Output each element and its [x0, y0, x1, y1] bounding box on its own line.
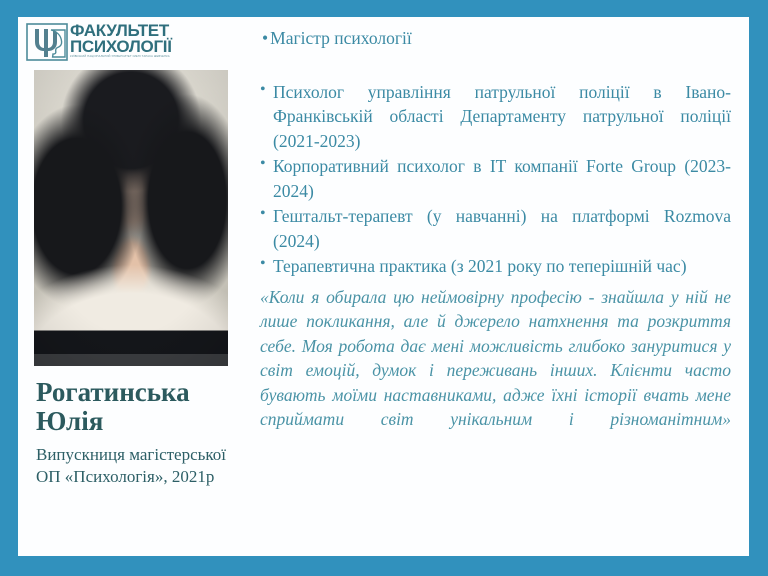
personal-quote: «Коли я обирала цю неймовірну професію -… — [260, 285, 731, 457]
profile-photo — [34, 70, 228, 366]
bullet-dot-icon: • — [262, 28, 268, 48]
list-item: Корпоративний психолог в IT компанії For… — [256, 154, 731, 203]
profile-subtitle: Випускниця магістерської ОП «Психологія»… — [36, 444, 232, 487]
logo-wordmark: ФАКУЛЬТЕТ ПСИХОЛОГІЇ КИЇВСЬКИЙ НАЦІОНАЛЬ… — [70, 23, 172, 59]
slide-frame: ФАКУЛЬТЕТ ПСИХОЛОГІЇ КИЇВСЬКИЙ НАЦІОНАЛЬ… — [0, 0, 768, 576]
faculty-logo: ФАКУЛЬТЕТ ПСИХОЛОГІЇ КИЇВСЬКИЙ НАЦІОНАЛЬ… — [26, 23, 172, 67]
profile-name: Рогатинська Юлія — [36, 378, 236, 435]
lead-bullet: •Магістр психології — [256, 28, 731, 50]
lead-bullet-text: Магістр психології — [270, 28, 412, 48]
list-item: Гештальт-терапевт (у навчанні) на платфо… — [256, 204, 731, 253]
content-column: •Магістр психології Психолог управління … — [244, 17, 749, 556]
list-item: Терапевтична практика (з 2021 року по те… — [256, 254, 731, 279]
photo-vignette — [34, 70, 228, 366]
psi-face-logo-icon — [26, 23, 68, 63]
experience-list: Психолог управління патрульної поліції в… — [256, 80, 731, 279]
logo-line-2: ПСИХОЛОГІЇ — [70, 39, 172, 55]
profile-column: ФАКУЛЬТЕТ ПСИХОЛОГІЇ КИЇВСЬКИЙ НАЦІОНАЛЬ… — [18, 17, 244, 556]
slide-content-area: ФАКУЛЬТЕТ ПСИХОЛОГІЇ КИЇВСЬКИЙ НАЦІОНАЛЬ… — [18, 17, 749, 556]
list-item: Психолог управління патрульної поліції в… — [256, 80, 731, 154]
logo-university-subtitle: КИЇВСЬКИЙ НАЦІОНАЛЬНИЙ УНІВЕРСИТЕТ ІМЕНІ… — [70, 56, 172, 59]
